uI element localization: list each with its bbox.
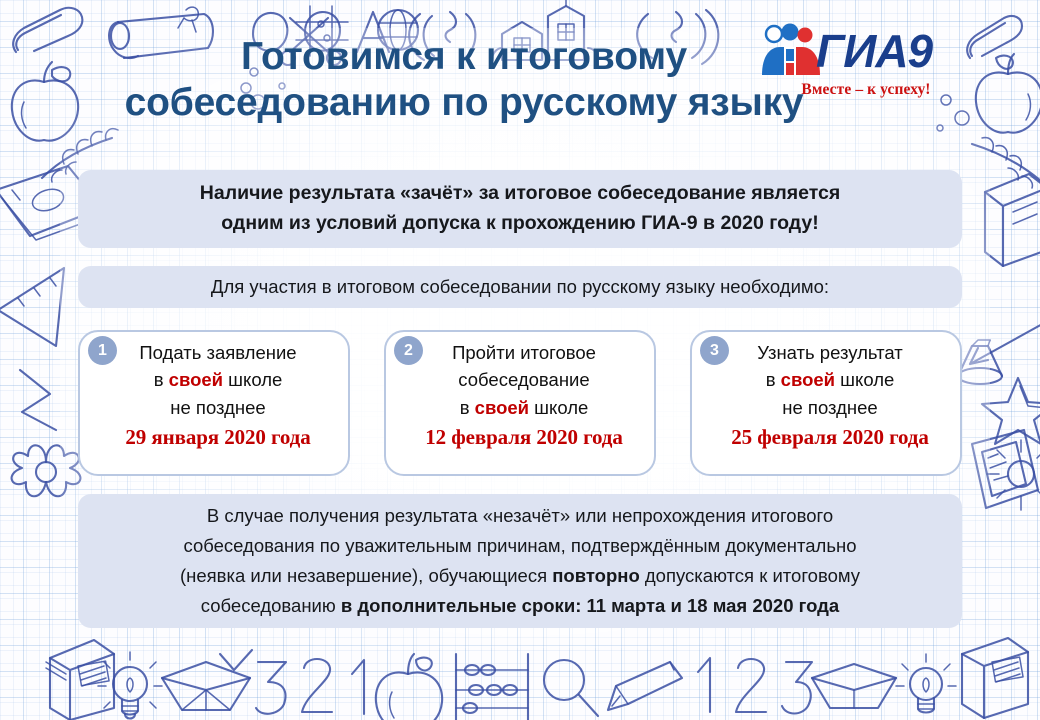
logo-wordmark: ГИА9 [816,28,932,74]
step-card-1: 1 Подать заявление в своей школе не позд… [78,330,350,476]
gia9-logo: ГИА9 Вместе – к успеху! [760,22,972,108]
step-card-3-body: Узнать результат в своей школе не поздне… [692,339,960,453]
title-line-2: собеседованию по русскому языку [78,80,850,126]
step-1-highlight: своей [169,369,223,390]
step-2-date: 12 февраля 2020 года [406,422,642,453]
step-3-line-2-pre: в [766,369,781,390]
requirements-subtitle-bar: Для участия в итоговом собеседовании по … [78,266,962,308]
step-1-line-1: Подать заявление [100,339,336,366]
footer-line-1: В случае получения результата «незачёт» … [207,505,833,526]
step-card-3: 3 Узнать результат в своей школе не позд… [690,330,962,476]
step-3-line-1: Узнать результат [712,339,948,366]
step-1-line-2-pre: в [154,369,169,390]
step-1-line-2: в своей школе [100,366,336,393]
footer-emphasis-dates: в дополнительные сроки: 11 марта и 18 ма… [341,595,839,616]
banner-text: Наличие результата «зачёт» за итоговое с… [200,179,840,238]
step-card-1-body: Подать заявление в своей школе не поздне… [80,339,348,453]
banner-line-2: одним из условий допуска к прохождению Г… [221,212,818,234]
step-3-highlight: своей [781,369,835,390]
step-1-line-2-post: школе [223,369,282,390]
step-2-line-2: собеседование [406,366,642,393]
title-line-1: Готовимся к итоговому [78,34,850,80]
retake-info-panel: В случае получения результата «незачёт» … [78,494,962,628]
footer-emphasis-repeat: повторно [552,565,640,586]
footer-line-2: собеседования по уважительным причинам, … [184,535,857,556]
key-message-banner: Наличие результата «зачёт» за итоговое с… [78,170,962,248]
footer-line-3c: допускаются к итоговому [640,565,860,586]
footer-line-4a: собеседованию [201,595,341,616]
step-2-line-3-post: школе [529,397,588,418]
banner-line-1: Наличие результата «зачёт» за итоговое с… [200,182,840,204]
step-3-line-2: в своей школе [712,366,948,393]
logo-main-row: ГИА9 [760,22,972,80]
subtitle-text: Для участия в итоговом собеседовании по … [211,273,829,301]
step-1-date: 29 января 2020 года [100,422,336,453]
step-2-line-3: в своей школе [406,394,642,421]
step-2-highlight: своей [475,397,529,418]
step-3-line-2-post: школе [835,369,894,390]
gia9-people-mark-icon [760,23,822,79]
footer-line-3a: (неявка или незавершение), обучающиеся [180,565,552,586]
logo-slogan: Вместе – к успеху! [760,81,972,99]
step-3-date: 25 февраля 2020 года [712,422,948,453]
step-2-line-3-pre: в [460,397,475,418]
infographic-poster: Готовимся к итоговому собеседованию по р… [0,0,1040,720]
steps-container: 1 Подать заявление в своей школе не позд… [78,330,962,476]
step-2-line-1: Пройти итоговое [406,339,642,366]
step-card-2-body: Пройти итоговое собеседование в своей шк… [386,339,654,453]
step-3-line-3: не позднее [712,394,948,421]
step-1-line-3: не позднее [100,394,336,421]
step-card-2: 2 Пройти итоговое собеседование в своей … [384,330,656,476]
footer-text: В случае получения результата «незачёт» … [180,501,860,621]
